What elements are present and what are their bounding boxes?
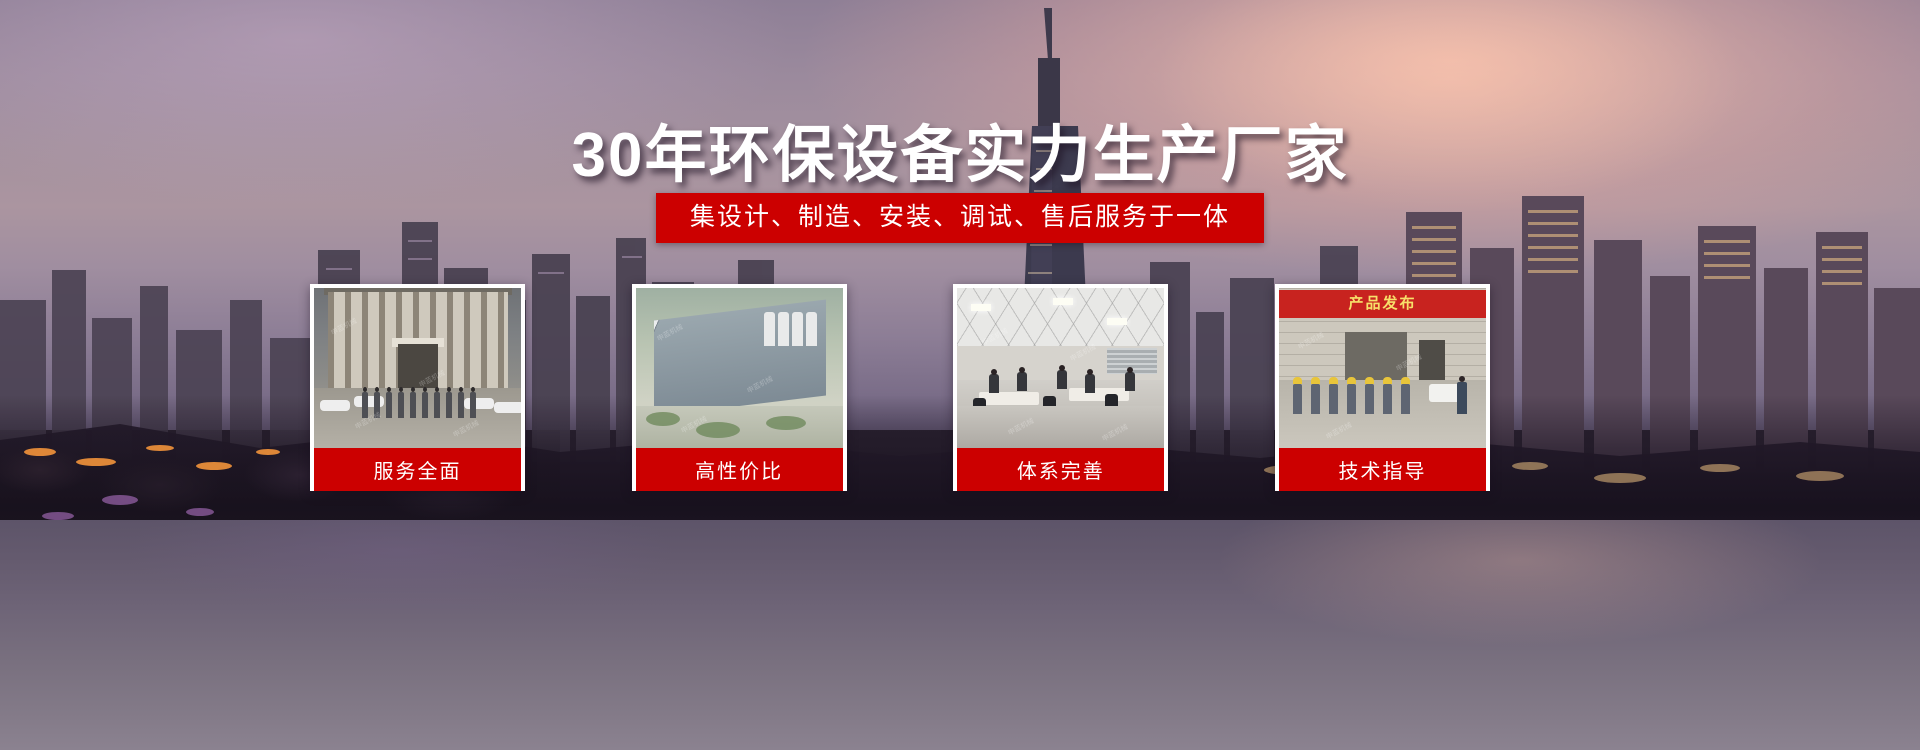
workshop-sign-text: 产品发布 xyxy=(1279,292,1486,313)
card-photo-industrial-plant: 申蓝机械 申蓝机械 申蓝机械 xyxy=(636,288,843,448)
feature-card[interactable]: 申蓝机械 申蓝机械 申蓝机械 申蓝机械 服务全面 xyxy=(310,284,525,491)
feature-card-row: 申蓝机械 申蓝机械 申蓝机械 申蓝机械 服务全面 xyxy=(310,284,1490,496)
river-reflection xyxy=(0,520,1920,750)
card-label: 服务全面 xyxy=(314,448,521,491)
card-photo-workshop-workers: 产品发布 申蓝机械 申蓝机械 申蓝机械 xyxy=(1279,288,1486,448)
card-label: 技术指导 xyxy=(1279,448,1486,491)
card-label: 高性价比 xyxy=(636,448,843,491)
hero-banner: 30年环保设备实力生产厂家 集设计、制造、安装、调试、售后服务于一体 xyxy=(0,0,1920,750)
card-photo-office-interior: 申蓝机械 申蓝机械 申蓝机械 申蓝机械 xyxy=(957,288,1164,448)
feature-card[interactable]: 申蓝机械 申蓝机械 申蓝机械 申蓝机械 体系完善 xyxy=(953,284,1168,491)
banner-subtitle: 集设计、制造、安装、调试、售后服务于一体 xyxy=(656,193,1264,243)
banner-headline: 30年环保设备实力生产厂家 xyxy=(0,104,1920,194)
card-label: 体系完善 xyxy=(957,448,1164,491)
feature-card[interactable]: 产品发布 申蓝机械 申蓝机械 申蓝机械 技术指导 xyxy=(1275,284,1490,491)
card-photo-office-building: 申蓝机械 申蓝机械 申蓝机械 申蓝机械 xyxy=(314,288,521,448)
feature-card[interactable]: 申蓝机械 申蓝机械 申蓝机械 高性价比 xyxy=(632,284,847,491)
subtitle-wrapper: 集设计、制造、安装、调试、售后服务于一体 xyxy=(0,193,1920,243)
